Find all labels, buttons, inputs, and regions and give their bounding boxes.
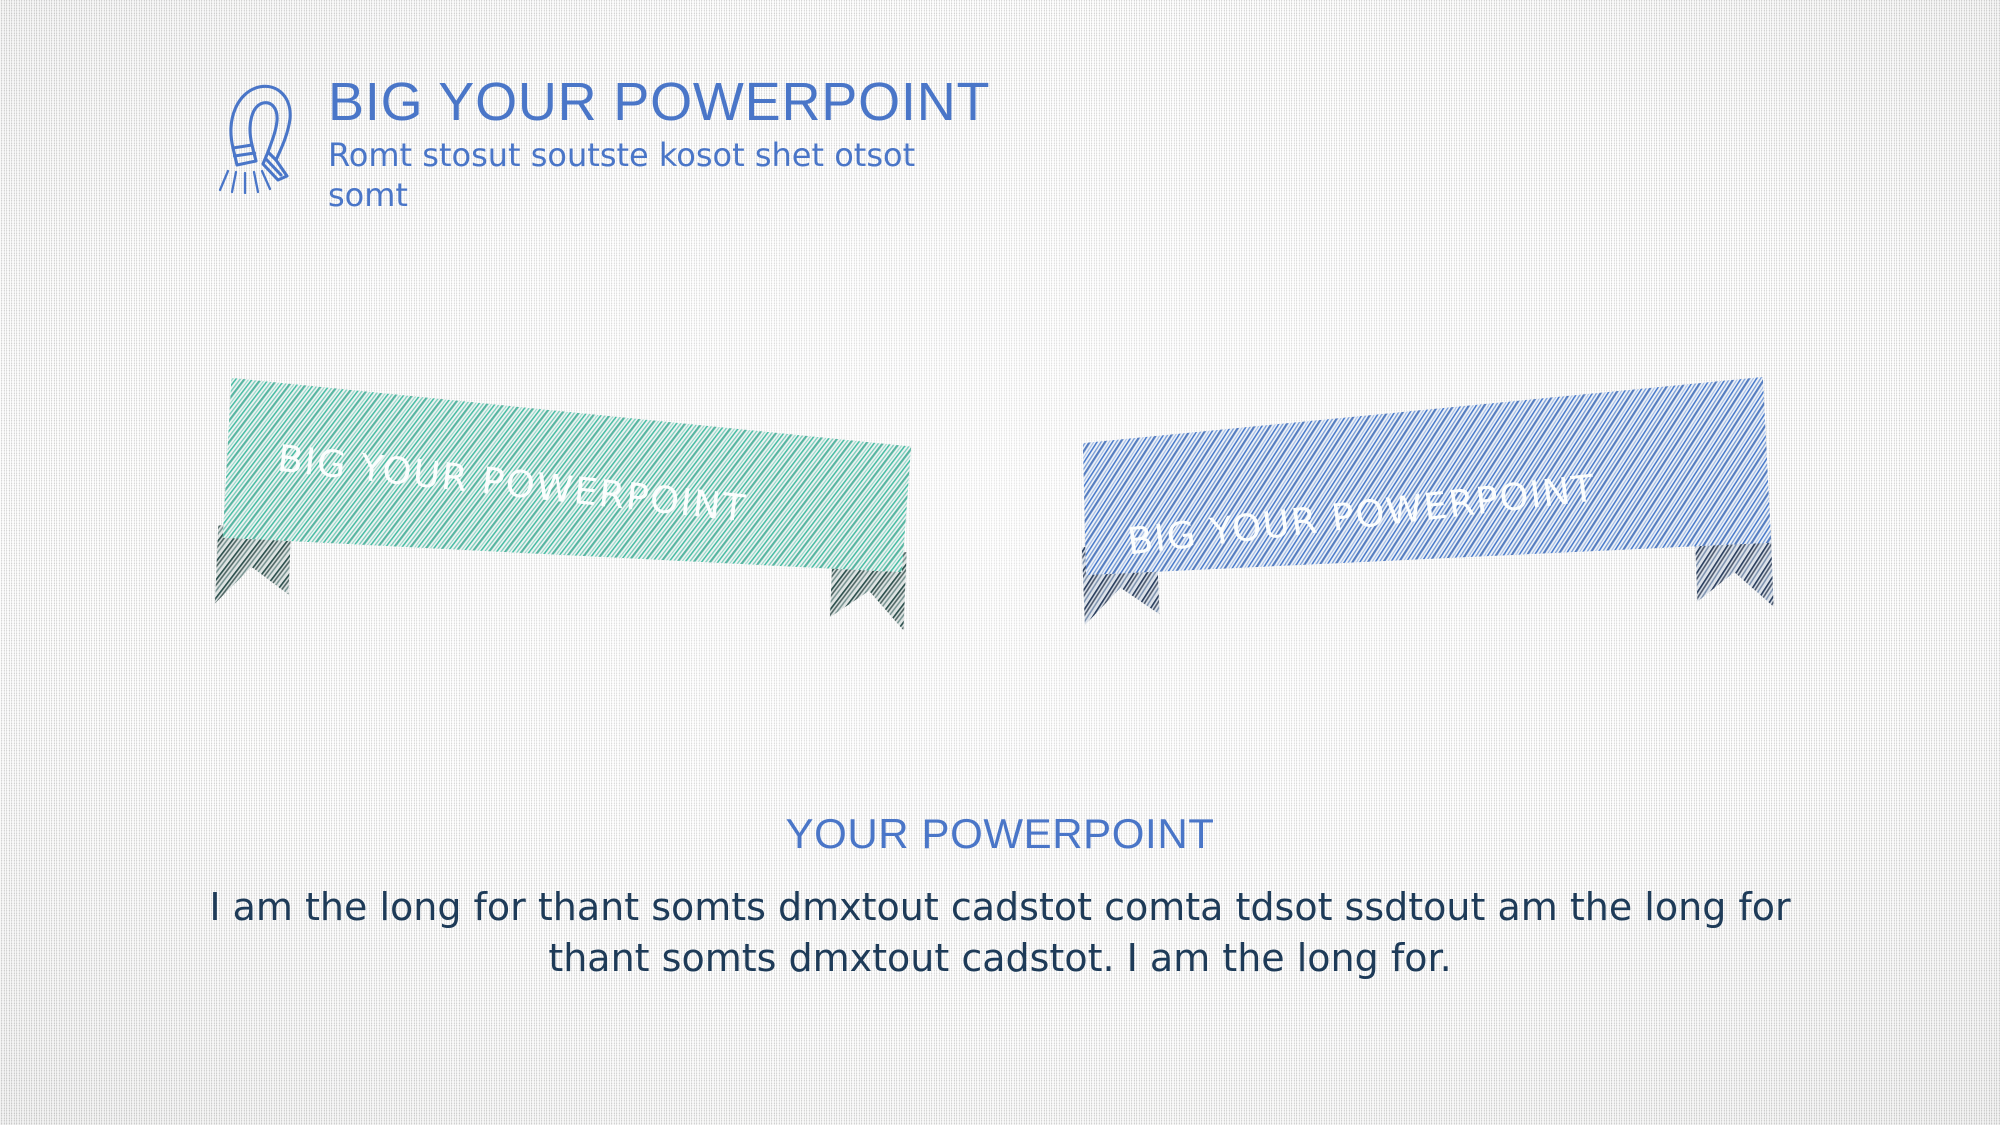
magnet-icon bbox=[214, 76, 306, 194]
page-subtitle: Romt stosut soutste kosot shet otsot som… bbox=[328, 135, 948, 216]
banner-green[interactable]: BIG YOUR POWERPOINT bbox=[215, 370, 915, 630]
page-title: BIG YOUR POWERPOINT bbox=[328, 74, 1214, 131]
footer-heading: YOUR POWERPOINT bbox=[0, 810, 2000, 858]
footer-body-text: I am the long for thant somts dmxtout ca… bbox=[200, 882, 1800, 985]
slide-canvas: BIG YOUR POWERPOINT Romt stosut soutste … bbox=[0, 0, 2000, 1125]
header-text-group: BIG YOUR POWERPOINT Romt stosut soutste … bbox=[328, 72, 1214, 215]
header: BIG YOUR POWERPOINT Romt stosut soutste … bbox=[214, 72, 1214, 215]
footer-block: YOUR POWERPOINT I am the long for thant … bbox=[0, 810, 2000, 985]
banner-blue[interactable]: BIG YOUR POWERPOINT bbox=[1075, 372, 1775, 632]
